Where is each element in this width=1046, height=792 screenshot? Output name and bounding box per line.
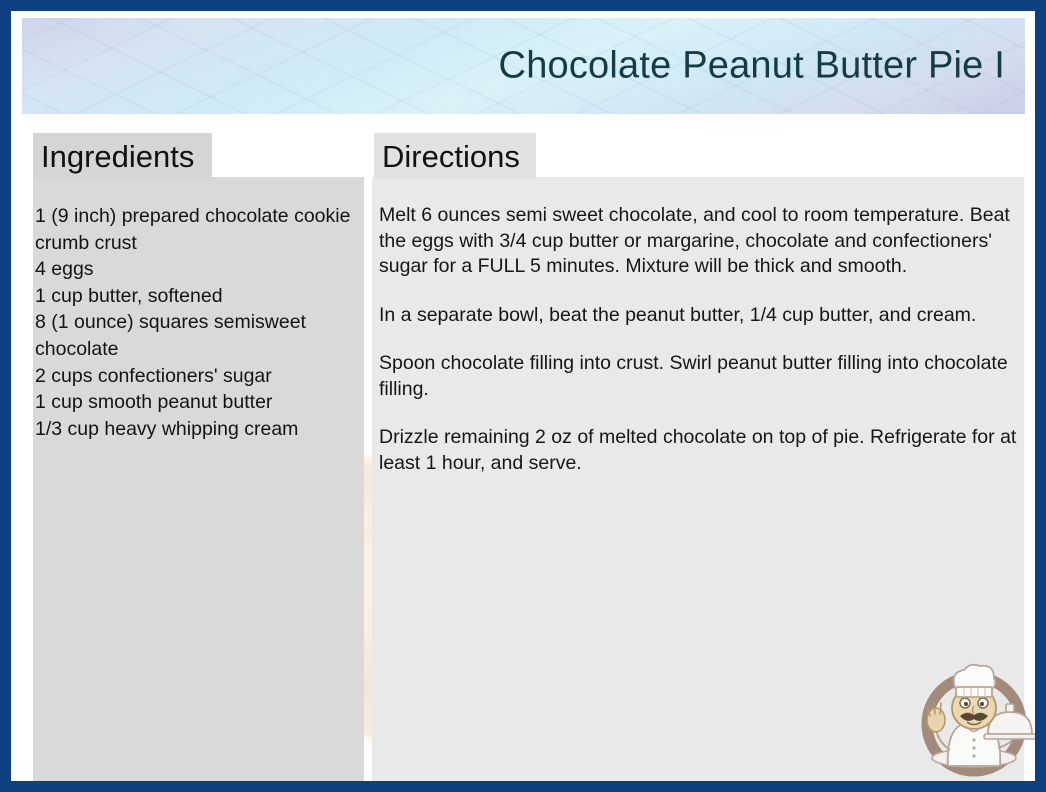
chef-logo xyxy=(910,654,1035,781)
directions-heading-tab: Directions xyxy=(374,133,536,179)
directions-heading: Directions xyxy=(374,141,520,172)
page-title: Chocolate Peanut Butter Pie I xyxy=(499,45,1005,88)
list-item: 8 (1 ounce) squares semisweet chocolate xyxy=(35,309,365,362)
list-item: 2 cups confectioners' sugar xyxy=(35,363,365,390)
direction-step: Drizzle remaining 2 oz of melted chocola… xyxy=(379,425,1027,476)
ingredients-heading: Ingredients xyxy=(33,141,194,172)
direction-step: Melt 6 ounces semi sweet chocolate, and … xyxy=(379,203,1027,280)
recipe-page: Chocolate Peanut Butter Pie I xyxy=(11,11,1035,781)
direction-step: Spoon chocolate filling into crust. Swir… xyxy=(379,351,1027,402)
direction-step: In a separate bowl, beat the peanut butt… xyxy=(379,303,1027,329)
directions-body: Melt 6 ounces semi sweet chocolate, and … xyxy=(379,203,1027,476)
recipe-card: Chocolate Peanut Butter Pie I xyxy=(0,0,1046,792)
list-item: 1 cup smooth peanut butter xyxy=(35,389,365,416)
list-item: 1 cup butter, softened xyxy=(35,283,365,310)
ingredients-list: 1 (9 inch) prepared chocolate cookie cru… xyxy=(35,203,365,442)
ingredients-heading-tab: Ingredients xyxy=(33,133,212,179)
list-item: 1/3 cup heavy whipping cream xyxy=(35,416,365,443)
list-item: 1 (9 inch) prepared chocolate cookie cru… xyxy=(35,203,365,256)
title-banner: Chocolate Peanut Butter Pie I xyxy=(22,18,1025,114)
list-item: 4 eggs xyxy=(35,256,365,283)
